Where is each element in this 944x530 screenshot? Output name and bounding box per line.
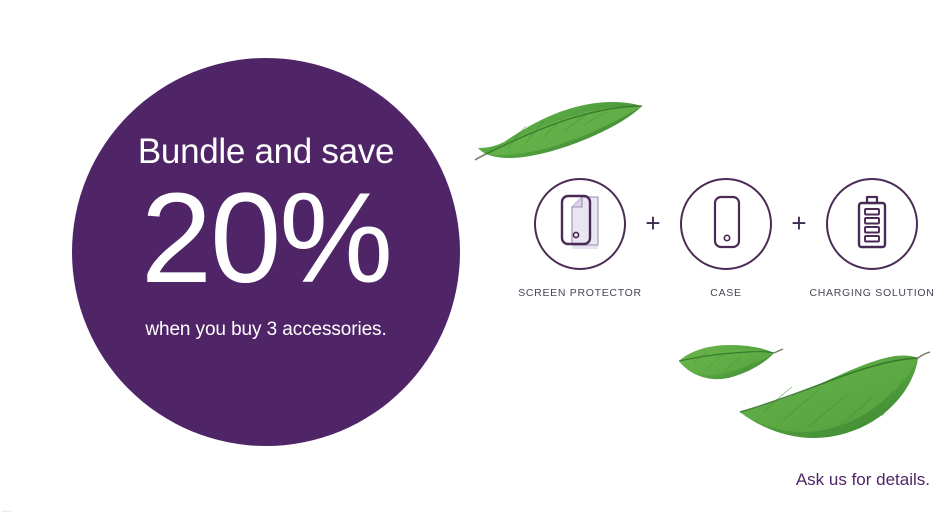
leaf-bottom-small-icon <box>676 342 784 386</box>
plus-separator-2: + <box>791 210 806 236</box>
accessory-label-charging-solution: CHARGING SOLUTION <box>809 287 934 299</box>
accessory-bundle-row: SCREEN PROTECTOR + CASE + <box>516 178 936 299</box>
accessory-label-case: CASE <box>710 287 741 299</box>
accessory-label-screen-protector: SCREEN PROTECTOR <box>518 287 642 299</box>
plus-separator-1: + <box>645 210 660 236</box>
accessory-item-charging-solution[interactable]: CHARGING SOLUTION <box>808 178 936 299</box>
phone-case-ring <box>680 178 772 270</box>
screen-protector-icon <box>552 193 608 255</box>
accessory-item-case[interactable]: CASE <box>662 178 790 299</box>
screen-protector-ring <box>534 178 626 270</box>
promo-circle: Bundle and save 20% when you buy 3 acces… <box>72 58 460 446</box>
leaf-top-icon <box>474 88 652 166</box>
ask-us-for-details-text: Ask us for details. <box>796 470 930 490</box>
promo-discount-value: 20% <box>141 175 391 303</box>
phone-case-icon <box>705 193 747 255</box>
battery-charging-icon <box>850 193 894 255</box>
corner-watermark: ▫▫▫▫▫ <box>2 509 12 515</box>
accessory-item-screen-protector[interactable]: SCREEN PROTECTOR <box>516 178 644 299</box>
battery-charging-ring <box>826 178 918 270</box>
leaf-bottom-large-icon <box>738 350 934 440</box>
promo-subline: when you buy 3 accessories. <box>145 319 386 341</box>
promo-banner: Bundle and save 20% when you buy 3 acces… <box>0 0 944 530</box>
promo-headline: Bundle and save <box>138 134 394 169</box>
